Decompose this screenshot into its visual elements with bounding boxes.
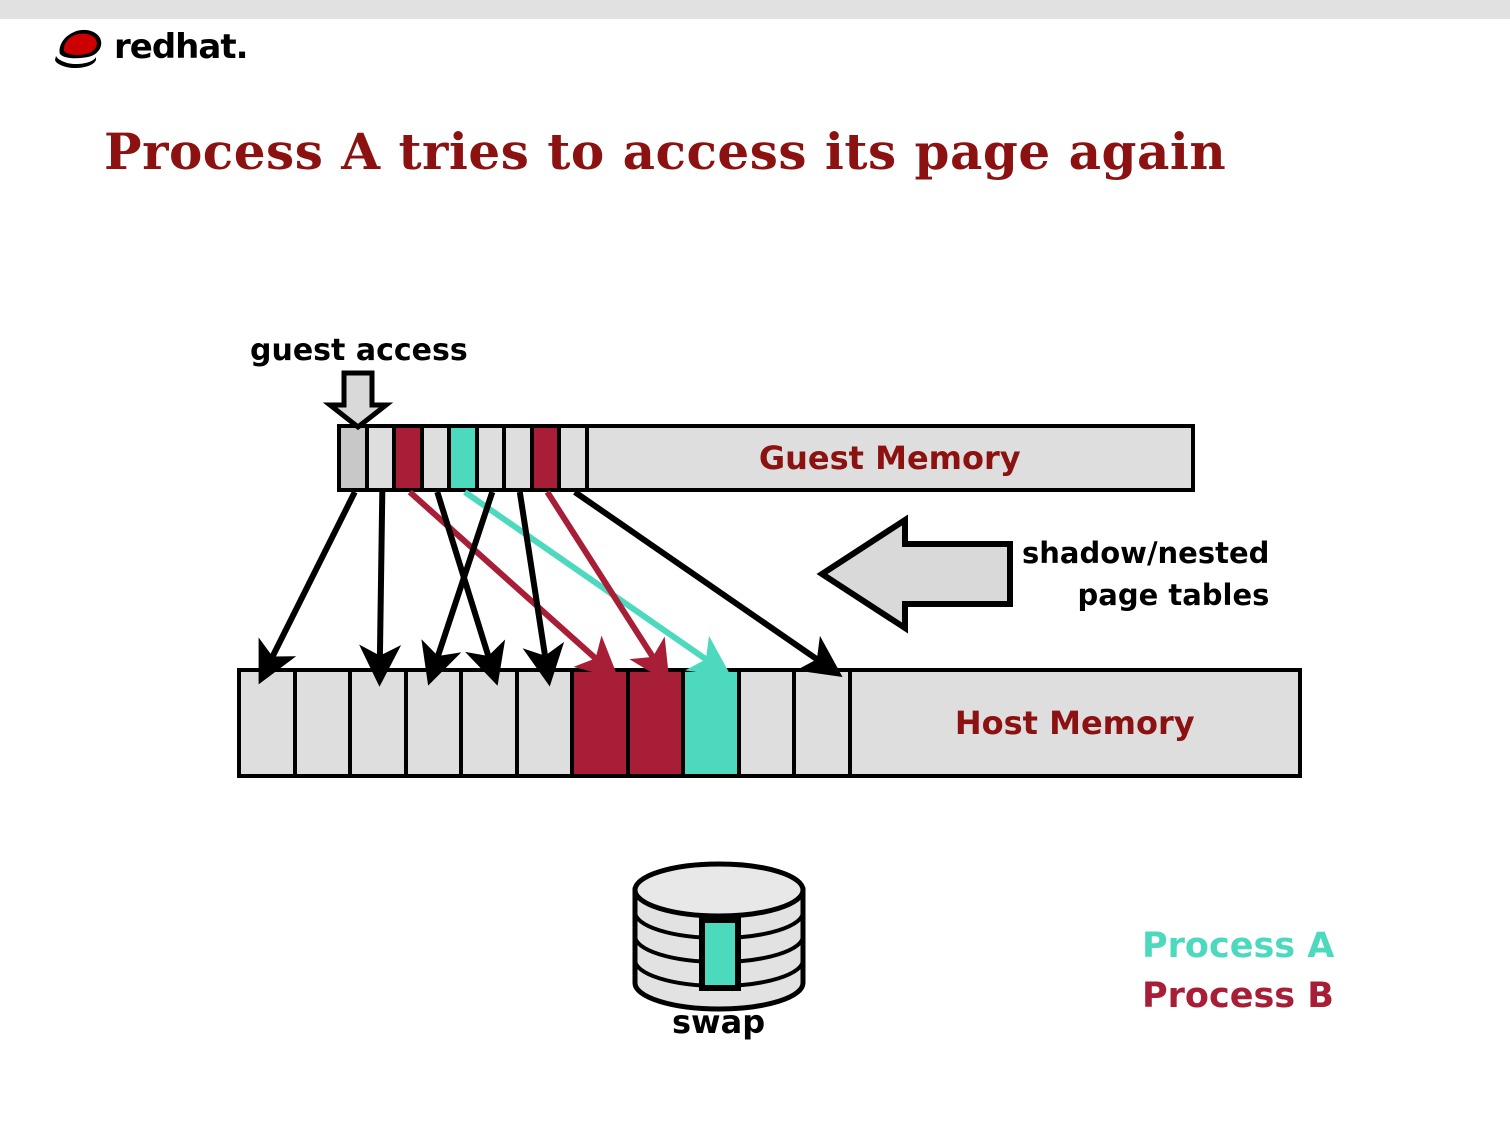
mapping-arrow-g0-h0 [269, 492, 355, 664]
guest-memory-cell-6 [506, 428, 534, 488]
host-memory-cell-7 [630, 672, 686, 774]
guest-access-label: guest access [250, 333, 468, 368]
guest-memory-label: Guest Memory [759, 439, 1021, 477]
host-memory-label-area: Host Memory [852, 672, 1299, 774]
redhat-wordmark: redhat. [114, 27, 247, 67]
host-memory-cell-3 [408, 672, 464, 774]
guest-memory-cell-4 [451, 428, 479, 488]
shadow-nested-page-tables-label: shadow/nested page tables [1022, 532, 1269, 616]
mapping-arrow-g3-h4 [437, 492, 491, 664]
host-memory-cell-9 [741, 672, 797, 774]
mapping-arrow-g1-h2 [380, 492, 383, 664]
host-memory-cell-0 [241, 672, 297, 774]
legend: Process A Process B [1142, 922, 1334, 1021]
host-memory-cell-1 [297, 672, 353, 774]
slide-canvas: redhat. Process A tries to access its pa… [0, 0, 1510, 1133]
guest-memory-cell-3 [424, 428, 452, 488]
host-memory-cell-10 [796, 672, 852, 774]
guest-memory-label-area: Guest Memory [589, 428, 1192, 488]
guest-memory-cell-0 [341, 428, 369, 488]
host-memory-bar: Host Memory [237, 668, 1302, 778]
legend-item-process-a: Process A [1142, 922, 1334, 972]
host-memory-cell-6 [574, 672, 630, 774]
host-memory-label: Host Memory [955, 704, 1195, 742]
host-memory-cell-4 [463, 672, 519, 774]
mapping-arrow-g8-h10 [575, 492, 824, 664]
guest-memory-cell-7 [534, 428, 562, 488]
page-title: Process A tries to access its page again [104, 122, 1226, 181]
mapping-arrow-g4-h8 [465, 492, 713, 664]
redhat-logo: redhat. [52, 24, 252, 70]
guest-memory-cell-1 [369, 428, 397, 488]
top-band [0, 0, 1510, 19]
legend-item-process-b: Process B [1142, 972, 1334, 1022]
guest-memory-cell-2 [396, 428, 424, 488]
guest-memory-bar: Guest Memory [337, 424, 1195, 492]
swap-cylinder-icon [635, 864, 803, 1009]
mapping-arrow-g2-h6 [410, 492, 602, 664]
mapping-arrow-g5-h3 [435, 492, 492, 664]
swap-label: swap [672, 1003, 765, 1041]
host-memory-cell-8 [685, 672, 741, 774]
shadow-nested-arrow-icon [822, 520, 1010, 628]
host-memory-cell-2 [352, 672, 408, 774]
guest-memory-cell-8 [561, 428, 589, 488]
guest-access-arrow-icon [330, 373, 386, 427]
host-memory-cell-5 [519, 672, 575, 774]
mapping-arrow-g6-h5 [520, 492, 547, 664]
page-table-mapping-arrows [269, 492, 824, 664]
mapping-arrow-g7-h7 [547, 492, 657, 664]
swap-stored-page [702, 920, 738, 988]
guest-memory-cell-5 [479, 428, 507, 488]
